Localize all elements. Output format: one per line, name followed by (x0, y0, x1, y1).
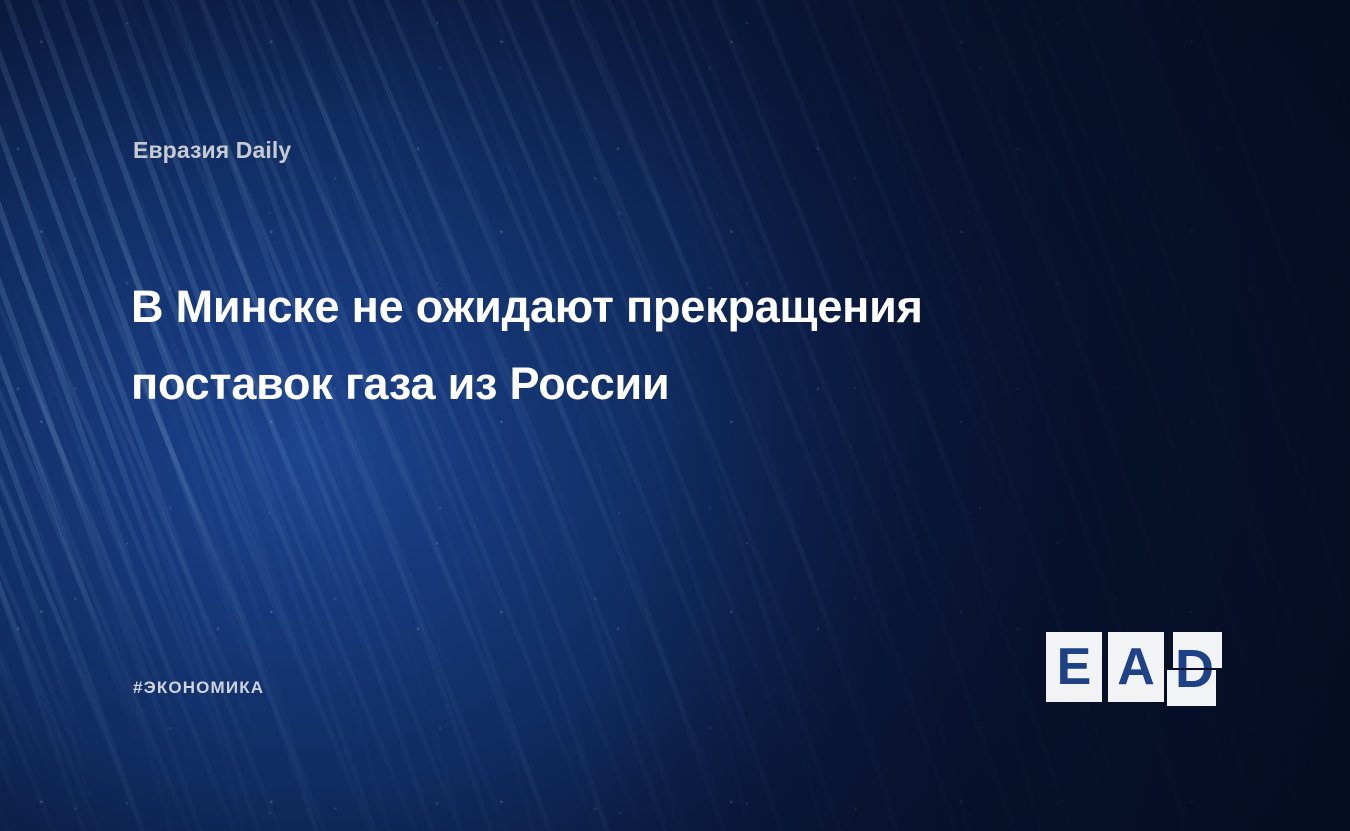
headline-line-1: В Минске не ожидают прекращения (131, 268, 1041, 345)
logo-tile-a: A (1108, 632, 1164, 702)
logo-tile-d: D D (1167, 630, 1222, 708)
headline: В Минске не ожидают прекращения поставок… (131, 268, 1041, 423)
ead-logo: E A D D (1046, 630, 1222, 708)
logo-tile-e: E (1046, 632, 1102, 702)
headline-line-2: поставок газа из России (131, 345, 1041, 422)
logo-d-glyph-top: D (1173, 632, 1222, 668)
logo-tile-d-bottom: D (1167, 670, 1216, 706)
logo-d-glyph-bottom: D (1167, 670, 1216, 706)
rubric-tag: #ЭКОНОМИКА (133, 678, 264, 698)
card-content: Евразия Daily В Минске не ожидают прекра… (0, 0, 1350, 831)
brand-name: Евразия Daily (133, 138, 291, 163)
logo-tile-d-top: D (1173, 632, 1222, 668)
news-share-card: Евразия Daily В Минске не ожидают прекра… (0, 0, 1350, 831)
